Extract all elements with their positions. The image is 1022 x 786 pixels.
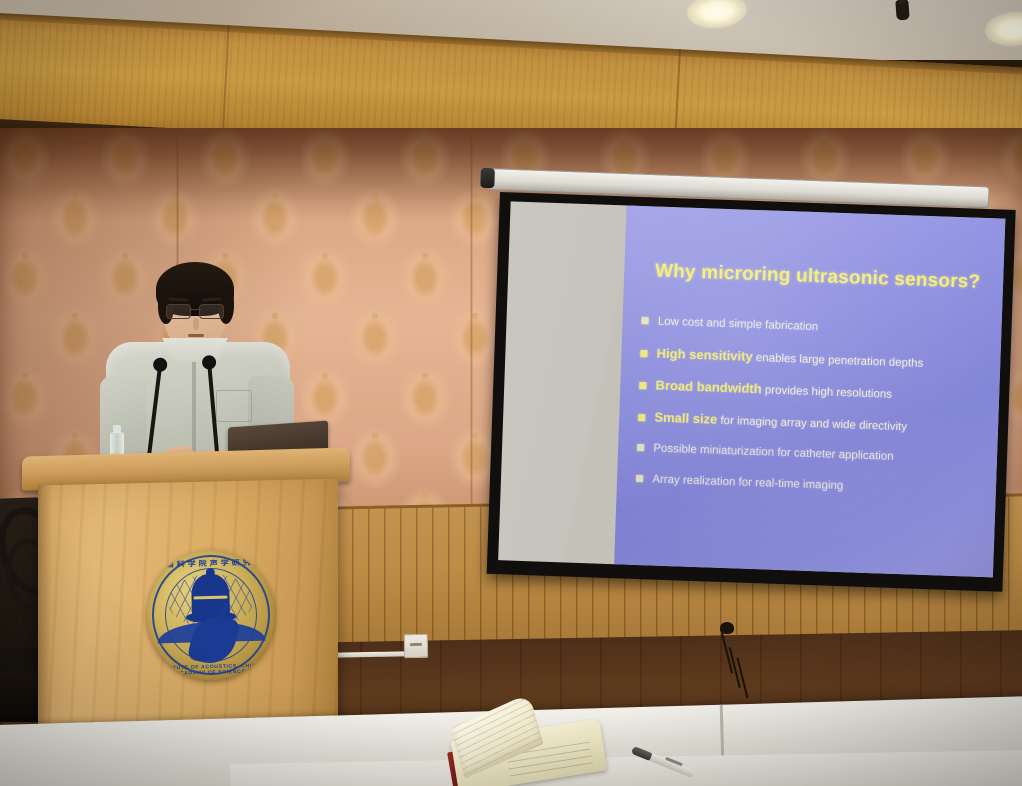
ceiling-fixture-icon: [895, 0, 909, 20]
shirt-placket: [192, 362, 196, 464]
glasses-icon: [166, 304, 224, 317]
bullet-square-icon: [637, 444, 644, 451]
bullet-text: for imaging array and wide directivity: [720, 415, 907, 434]
bullet-square-icon: [638, 414, 645, 421]
projection-screen: Why microring ultrasonic sensors? Low co…: [487, 192, 1016, 592]
slide-bullet-item: Possible miniaturization for catheter ap…: [637, 442, 989, 468]
bullet-highlight: Small size: [654, 410, 717, 427]
projected-slide: Why microring ultrasonic sensors? Low co…: [614, 205, 1005, 577]
bullet-square-icon: [639, 382, 646, 389]
bullet-square-icon: [642, 318, 649, 325]
bullet-highlight: High sensitivity: [656, 345, 753, 363]
shirt-pocket: [216, 390, 252, 422]
slide-bullet-item: Low cost and simple fabrication: [642, 316, 994, 342]
slide-bullet-item: Array realization for real-time imaging: [636, 473, 988, 499]
slide-bullet-item: Broad bandwidth provides high resolution…: [639, 378, 992, 406]
bullet-highlight: Broad bandwidth: [655, 377, 762, 396]
bullet-text: Array realization for real-time imaging: [652, 473, 843, 493]
bullet-text: Low cost and simple fabrication: [658, 316, 819, 335]
bullet-text: Possible miniaturization for catheter ap…: [653, 443, 894, 465]
bullet-square-icon: [636, 475, 643, 482]
wall-outlet-icon: [404, 634, 428, 658]
emblem-chinese-text: 中国科学院声学研究所: [146, 557, 274, 570]
bullet-text: provides high resolutions: [765, 384, 893, 400]
screen-canvas: Why microring ultrasonic sensors? Low co…: [498, 201, 1005, 577]
wall-seam: [470, 128, 473, 548]
presenter-nose: [193, 318, 199, 330]
presenter-mouth: [188, 334, 204, 337]
conference-room-photo: Why microring ultrasonic sensors? Low co…: [0, 0, 1022, 786]
slide-bullet-list: Low cost and simple fabrication High sen…: [635, 316, 994, 515]
open-notebook: [444, 704, 644, 784]
bullet-square-icon: [641, 350, 648, 357]
slide-bullet-item: High sensitivity enables large penetrati…: [640, 346, 993, 374]
slide-bullet-item: Small size for imaging array and wide di…: [638, 410, 991, 438]
slide-title: Why microring ultrasonic sensors?: [639, 260, 996, 294]
wall-cable-hook-icon: [720, 622, 734, 634]
bullet-text: enables large penetration depths: [756, 352, 924, 370]
